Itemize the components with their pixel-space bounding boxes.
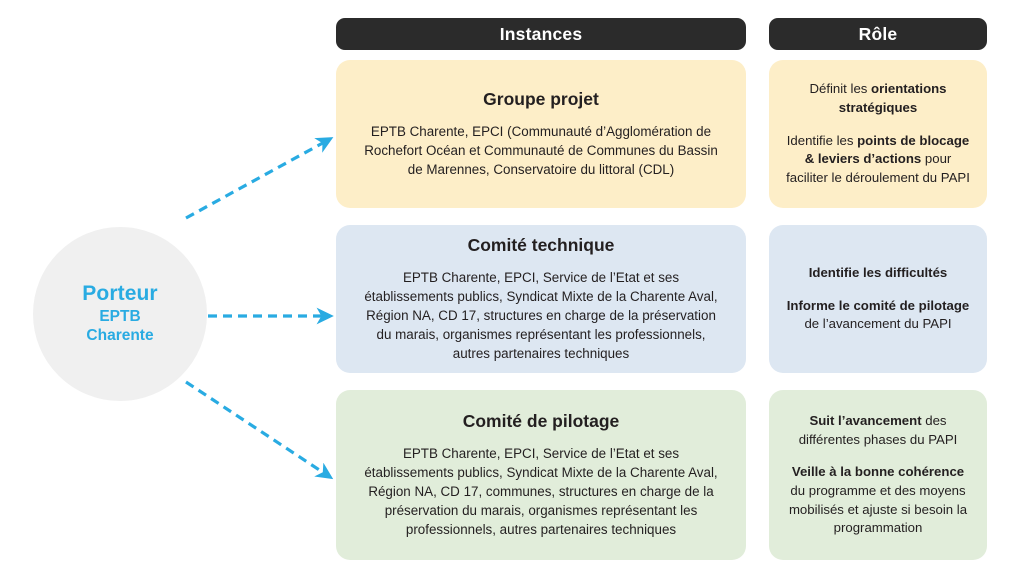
- porteur-subtitle-line2: Charente: [86, 327, 153, 346]
- column-header-instances: Instances: [336, 18, 746, 50]
- role-text-bold: Informe le comité de pilotage: [787, 298, 969, 313]
- role-block: Informe le comité de pilotage de l’avanc…: [783, 297, 973, 334]
- porteur-subtitle-line1: EPTB: [99, 308, 140, 327]
- role-text-post: de l’avancement du PAPI: [804, 316, 951, 331]
- instance-card-title: Comité technique: [468, 235, 615, 256]
- arrow-to-comite-pilotage: [186, 382, 330, 477]
- role-text-post: du programme et des moyens mobilisés et …: [789, 483, 967, 535]
- role-text-bold: Veille à la bonne cohérence: [792, 464, 964, 479]
- instance-card-body: EPTB Charente, EPCI, Service de l’Etat e…: [358, 444, 724, 539]
- diagram-canvas: Porteur EPTB Charente Instances Rôle Gro…: [0, 0, 1024, 576]
- role-text-bold: Suit l’avancement: [809, 413, 921, 428]
- instance-card-comite-technique: Comité technique EPTB Charente, EPCI, Se…: [336, 225, 746, 373]
- instance-card-groupe-projet: Groupe projet EPTB Charente, EPCI (Commu…: [336, 60, 746, 208]
- instance-card-title: Comité de pilotage: [463, 411, 620, 432]
- instance-card-comite-pilotage: Comité de pilotage EPTB Charente, EPCI, …: [336, 390, 746, 560]
- role-card-groupe-projet: Définit les orientations stratégiques Id…: [769, 60, 987, 208]
- role-text-pre: Définit les: [809, 81, 871, 96]
- instance-card-body: EPTB Charente, EPCI, Service de l’Etat e…: [358, 268, 724, 363]
- role-card-comite-pilotage: Suit l’avancement des différentes phases…: [769, 390, 987, 560]
- porteur-title: Porteur: [82, 282, 157, 306]
- role-text-bold: Identifie les difficultés: [809, 265, 948, 280]
- role-block: Identifie les difficultés: [809, 264, 948, 283]
- instance-card-body: EPTB Charente, EPCI (Communauté d’Agglom…: [358, 122, 724, 179]
- role-block: Suit l’avancement des différentes phases…: [783, 412, 973, 449]
- role-block: Définit les orientations stratégiques: [783, 80, 973, 117]
- arrow-to-groupe-projet: [186, 139, 330, 218]
- role-block: Identifie les points de blocage & levier…: [783, 132, 973, 188]
- instance-card-title: Groupe projet: [483, 89, 599, 110]
- role-card-comite-technique: Identifie les difficultés Informe le com…: [769, 225, 987, 373]
- column-header-role: Rôle: [769, 18, 987, 50]
- role-text-pre: Identifie les: [787, 133, 857, 148]
- porteur-circle: Porteur EPTB Charente: [33, 227, 207, 401]
- role-block: Veille à la bonne cohérence du programme…: [783, 463, 973, 538]
